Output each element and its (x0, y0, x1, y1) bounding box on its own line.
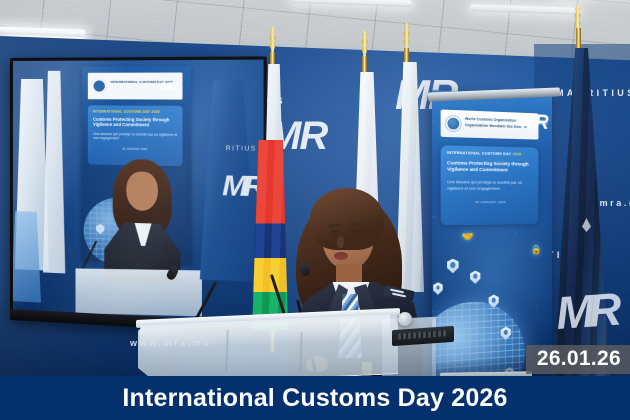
screenshot-root: MR MR MR MR MR MR RITIUS MAURITIUS TIUS … (0, 0, 630, 420)
wco-logo-icon (446, 116, 461, 131)
live-feed-image: INTERNATIONAL CUSTOMS DAY 2026 MR INTERN… (13, 60, 264, 324)
display-screen: INTERNATIONAL CUSTOMS DAY 2026 MR INTERN… (10, 56, 267, 334)
event-photograph: MR MR MR MR MR MR RITIUS MAURITIUS TIUS … (0, 0, 630, 378)
banner-theme-fr: Une douane qui protège la société par sa… (447, 179, 533, 191)
date-badge: 26.01.26 (526, 345, 630, 374)
mra-logo-icon: MR (554, 282, 617, 340)
wco-name-fr: Organisation Mondiale des Douanes (465, 123, 529, 129)
wco-name-en: World Customs Organization (465, 117, 516, 123)
screen-glare (13, 60, 264, 324)
caption-bar: International Customs Day 2026 (0, 376, 630, 420)
banner-title: INTERNATIONAL CUSTOMS DAY (447, 151, 511, 156)
banner-year: 2026 (512, 152, 521, 156)
podium-knob (398, 312, 412, 326)
banner-theme-card: INTERNATIONAL CUSTOMS DAY 2026 Customs P… (441, 145, 539, 225)
banner-title-row: INTERNATIONAL CUSTOMS DAY 2026 (447, 151, 533, 157)
banner-theme-en: Customs Protecting Society through Vigil… (447, 160, 533, 174)
banner-date: 26 JANUARY 2026 (447, 200, 533, 204)
padlock-icon: 🔒 (531, 244, 542, 255)
speaker-mouth (334, 252, 348, 260)
speaker-nose (337, 236, 344, 248)
screen-panel: INTERNATIONAL CUSTOMS DAY 2026 MR INTERN… (13, 60, 264, 324)
caption-title: International Customs Day 2026 (122, 384, 507, 413)
speaker-hair-front (310, 188, 384, 250)
wall-text-mauritius: MAURITIUS (556, 88, 630, 98)
handshake-icon: 🤝 (462, 231, 474, 243)
mra-wordmark: MAURITIUSREVENUEAUTHORITY (531, 115, 548, 126)
